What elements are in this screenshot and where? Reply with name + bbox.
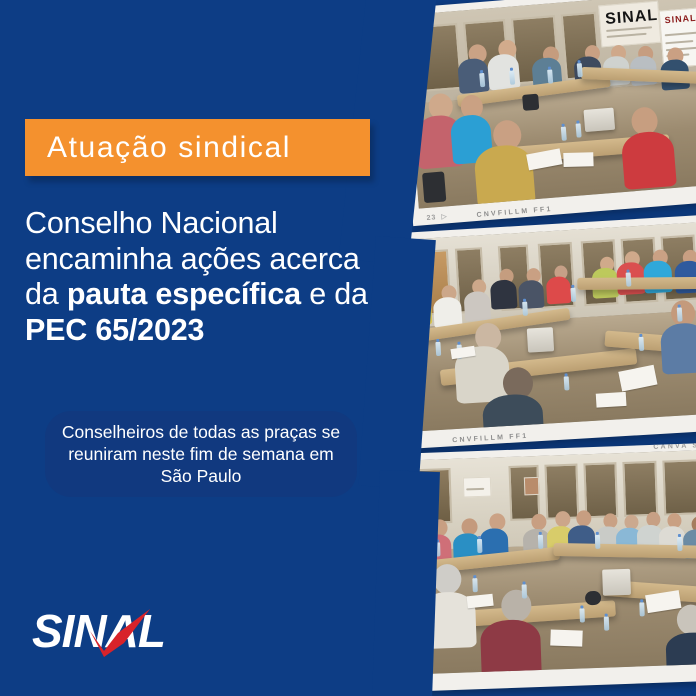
text-column: Atuação sindical Conselho Nacional encam…	[0, 0, 400, 696]
poster-canvas: SINAL SINAL	[0, 0, 696, 696]
caption-text: Conselheiros de todas as praças se reuni…	[45, 421, 357, 487]
photo-scene-top: SINAL SINAL	[403, 0, 696, 209]
sinal-logo: SINAL	[32, 603, 192, 659]
photo-scene-bottom	[411, 450, 696, 674]
caption-pill: Conselheiros de todas as praças se reuni…	[45, 411, 357, 497]
page-title: Conselho Nacional encaminha ações acerca…	[25, 206, 393, 348]
headline-line-3-suffix: e da	[301, 277, 368, 311]
headline-line-4-bold: PEC 65/2023	[25, 313, 204, 347]
badge-body: Atuação sindical	[25, 119, 370, 176]
eyebrow-badge: Atuação sindical	[25, 119, 370, 176]
photo-frame	[395, 222, 696, 432]
film-edge-text: CNVFILLM FF1	[476, 206, 553, 219]
headline-line-3-bold: pauta específica	[67, 277, 301, 311]
film-edge-text: CNVFILLM FF1	[452, 433, 528, 445]
headline-line-2: encaminha ações acerca	[25, 242, 360, 276]
film-frame-number: 23▷	[426, 212, 447, 222]
photo-frame: SINAL SINAL	[403, 0, 696, 209]
photo-frame	[411, 450, 696, 674]
badge-label: Atuação sindical	[47, 133, 291, 163]
meeting-room-photo-bottom: CANVA ST	[404, 443, 696, 692]
headline-line-1: Conselho Nacional	[25, 206, 278, 240]
photo-scene-middle	[395, 222, 696, 432]
headline-line-3-prefix: da	[25, 277, 67, 311]
meeting-room-photo-top: SINAL SINAL	[396, 0, 696, 226]
sinal-logo-svg: SINAL	[32, 603, 192, 659]
